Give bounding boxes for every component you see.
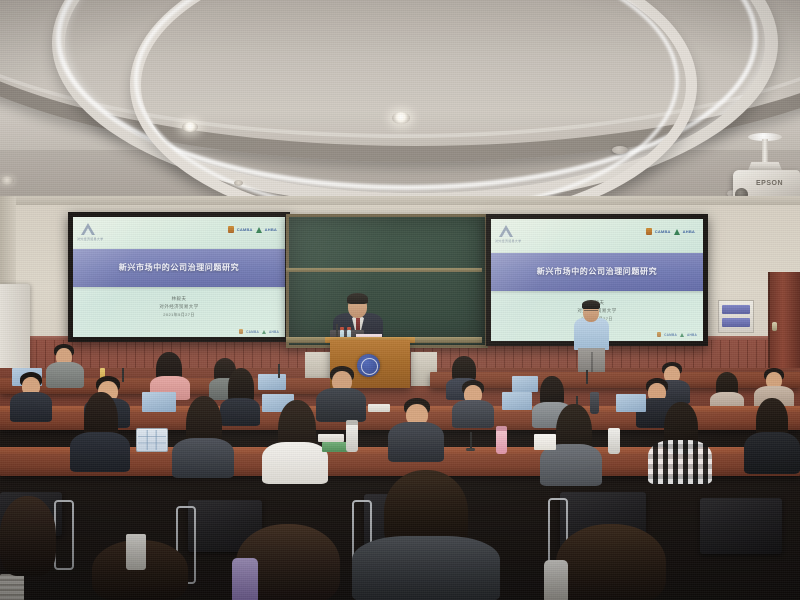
breaker-row [722, 318, 750, 327]
university-name-label: 对外经济贸易大学 [495, 239, 521, 243]
torso [46, 362, 84, 388]
thermos-purple [232, 558, 258, 600]
chair-frame [54, 500, 74, 570]
partner-logo-camba: CAMBA [655, 229, 671, 234]
footer-logo-triangle-icon [262, 330, 266, 334]
torso [452, 400, 494, 428]
chalkboard-middle-rail [286, 268, 482, 272]
hair [556, 524, 666, 600]
slide-affiliation-left: 对外经济贸易大学 [73, 304, 285, 310]
partner-logos: CAMBA AHBA [228, 226, 277, 233]
torso [262, 442, 328, 484]
university-name-label: 对外经济贸易大学 [77, 237, 103, 241]
footer-logo-ahba: AHBA [269, 330, 279, 334]
torso [316, 388, 366, 422]
partner-logo-ahba: AHBA [265, 227, 277, 232]
downlight [182, 122, 198, 132]
standing-man-glasses-icon [584, 310, 598, 314]
footer-logo-mark-icon [657, 332, 661, 337]
partner-logos: CAMBA AHBA [646, 228, 695, 235]
smoke-detector-icon [612, 146, 628, 154]
slide-title-left: 新兴市场中的公司治理问题研究 [73, 262, 285, 273]
chair-back[interactable] [700, 498, 782, 554]
torso [172, 438, 234, 478]
laptop-screen[interactable] [512, 376, 538, 392]
torso [10, 392, 52, 422]
partner-logo-mark-icon [228, 226, 234, 233]
slide-date-left: 2021年5月27日 [73, 312, 285, 318]
projector-mount-pole [762, 139, 768, 165]
speaker-tie [356, 318, 360, 330]
breaker-row [722, 305, 750, 314]
desk-microphone [122, 368, 124, 382]
lecture-hall-photo: EPSON 对外经济贸易大学 CAMBA AHBA 新兴市场中的 [0, 0, 800, 600]
chalkboard [286, 214, 488, 348]
torso [388, 422, 444, 462]
thermos-pink [496, 430, 507, 454]
wall-top-trim [0, 196, 800, 205]
paper-sheet [534, 434, 556, 450]
university-triangle-inner [502, 230, 510, 237]
footer-logo-camba: CAMBA [664, 333, 677, 337]
podium-microphone [336, 324, 338, 338]
door-handle-icon[interactable] [772, 322, 777, 331]
desk-row-far-right [430, 372, 800, 388]
thermos [590, 392, 599, 414]
torso [220, 398, 260, 426]
partner-logo-ahba: AHBA [683, 229, 695, 234]
water-bottle-cap [340, 327, 344, 330]
torso [540, 444, 602, 486]
downlight [392, 112, 410, 124]
thermos-cap [496, 426, 507, 431]
partner-logo-mark-icon [646, 228, 652, 235]
laptop-screen[interactable] [502, 392, 532, 410]
slide-footer-logos-right: CAMBA AHBA [657, 332, 697, 337]
laptop-screen[interactable] [616, 394, 646, 412]
projection-screen-left: 对外经济贸易大学 CAMBA AHBA 新兴市场中的公司治理问题研究 林毅夫 对… [68, 212, 290, 342]
slide-title-right: 新兴市场中的公司治理问题研究 [491, 266, 703, 277]
footer-logo-triangle-icon [680, 333, 684, 337]
downlight [0, 176, 14, 185]
laptop-screen[interactable] [258, 374, 286, 390]
hair [0, 496, 56, 576]
microphone-base [466, 448, 475, 451]
partner-logo-triangle-icon [674, 229, 680, 235]
thermos [346, 424, 358, 452]
footer-logo-ahba: AHBA [687, 333, 697, 337]
footer-logo-mark-icon [239, 329, 243, 334]
air-conditioner-unit [0, 284, 30, 376]
desk-microphone [586, 370, 588, 384]
thermos-cap [346, 420, 358, 425]
thermos [608, 428, 620, 454]
partner-logo-camba: CAMBA [237, 227, 253, 232]
torso [648, 440, 712, 484]
laptop-screen[interactable] [142, 392, 176, 412]
slide-footer-logos-left: CAMBA AHBA [239, 329, 279, 334]
ceiling [0, 0, 800, 215]
partner-logo-triangle-icon [256, 227, 262, 233]
tablet-screen[interactable] [138, 430, 166, 450]
podium-university-seal-icon [357, 354, 380, 377]
university-triangle-inner [84, 228, 92, 235]
footer-logo-camba: CAMBA [246, 330, 259, 334]
air-conditioner-grill-icon [0, 574, 24, 600]
standing-man-torso [574, 318, 609, 350]
speaker-hair [347, 293, 368, 304]
standing-man-leg-divide [591, 352, 593, 374]
torso [70, 432, 130, 472]
water-bottle-cap [347, 327, 351, 330]
slide-left: 对外经济贸易大学 CAMBA AHBA 新兴市场中的公司治理问题研究 林毅夫 对… [73, 217, 285, 337]
torso [744, 432, 800, 474]
projector-brand-label: EPSON [756, 180, 783, 187]
desk-microphone [278, 364, 280, 378]
standing-man-hair [582, 300, 600, 309]
torso [352, 536, 500, 600]
thermos [126, 534, 146, 570]
downlight [234, 180, 243, 186]
notebook [368, 404, 390, 412]
thermos-white [544, 560, 568, 600]
electrical-panel-box[interactable] [718, 300, 754, 333]
notebook [318, 434, 344, 442]
slide-presenter-left: 林毅夫 [73, 296, 285, 302]
tablet-device[interactable] [136, 428, 168, 452]
